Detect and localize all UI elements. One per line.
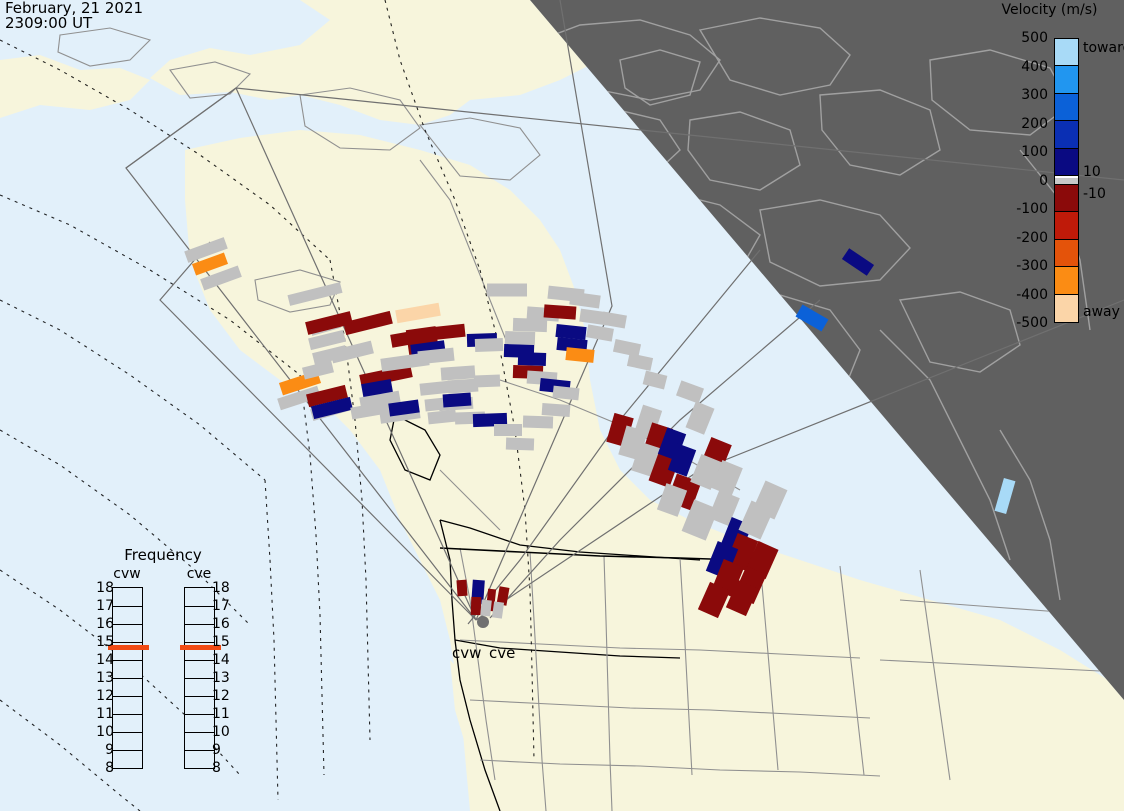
superdarn-velocity-map: February, 21 20212309:00 UT Velocity (m/… — [0, 0, 1124, 811]
frequency-title: Frequency — [88, 546, 238, 564]
colorbar-tick-300: 300 — [984, 87, 1048, 103]
frequency-label-cve-12: 12 — [212, 688, 238, 704]
gauge-gridline — [185, 696, 214, 697]
frequency-label-cve-18: 18 — [212, 580, 238, 596]
gauge-gridline — [185, 678, 214, 679]
gauge-gridline — [113, 678, 142, 679]
frequency-label-cvw-10: 10 — [88, 724, 114, 740]
colorbar-segment-150 — [1055, 121, 1078, 148]
frequency-legend: Frequency cvw cve 1818171716161515141413… — [88, 546, 238, 786]
colorbar-tick--300: -300 — [984, 258, 1048, 274]
colorbar-gradient — [1054, 38, 1079, 323]
gauge-gridline — [185, 660, 214, 661]
colorbar-tick--400: -400 — [984, 287, 1048, 303]
colorbar-tick--500: -500 — [984, 315, 1048, 331]
frequency-label-cve-15: 15 — [212, 634, 238, 650]
colorbar-away-label: away — [1083, 304, 1120, 320]
gauge-gridline — [113, 696, 142, 697]
gauge-gridline — [185, 642, 214, 643]
ground-scatter-cell — [475, 338, 503, 352]
gauge-gridline — [185, 624, 214, 625]
frequency-label-cvw-9: 9 — [88, 742, 114, 758]
colorbar-tick-500: 500 — [984, 30, 1048, 46]
frequency-label-cve-16: 16 — [212, 616, 238, 632]
frequency-label-cvw-13: 13 — [88, 670, 114, 686]
colorbar-segment--50 — [1055, 185, 1078, 212]
colorbar-title: Velocity (m/s) — [975, 2, 1124, 18]
frequency-label-cve-10: 10 — [212, 724, 238, 740]
gauge-gridline — [113, 624, 142, 625]
gauge-gridline — [113, 714, 142, 715]
gauge-gridline — [113, 732, 142, 733]
velocity-cell — [443, 393, 472, 408]
gauge-gridline — [113, 660, 142, 661]
frequency-label-cve-9: 9 — [212, 742, 238, 758]
frequency-marker-cvw — [108, 645, 149, 650]
velocity-cell — [518, 352, 546, 366]
colorbar-tick--100: -100 — [984, 201, 1048, 217]
frequency-label-cvw-11: 11 — [88, 706, 114, 722]
frequency-label-cve-13: 13 — [212, 670, 238, 686]
frequency-label-cvw-17: 17 — [88, 598, 114, 614]
timestamp-time: 2309:00 UT — [5, 14, 92, 32]
frequency-gauge-cve — [184, 587, 215, 769]
colorbar-segment-250 — [1055, 94, 1078, 121]
frequency-gauge-cvw — [112, 587, 143, 769]
frequency-label-cvw-16: 16 — [88, 616, 114, 632]
frequency-label-cvw-8: 8 — [88, 760, 114, 776]
gauge-gridline — [185, 606, 214, 607]
colorbar-segment-350 — [1055, 66, 1078, 93]
colorbar-tick-100: 100 — [984, 144, 1048, 160]
gauge-gridline — [185, 714, 214, 715]
velocity-cell — [456, 580, 467, 597]
ground-scatter-cell — [506, 438, 534, 451]
frequency-label-cvw-18: 18 — [88, 580, 114, 596]
frequency-label-cvw-12: 12 — [88, 688, 114, 704]
gauge-gridline — [113, 642, 142, 643]
colorbar-segment--150 — [1055, 212, 1078, 239]
velocity-cell — [471, 597, 482, 615]
colorbar-segment-50 — [1055, 149, 1078, 176]
frequency-label-cvw-15: 15 — [88, 634, 114, 650]
ground-scatter-cell — [494, 424, 522, 436]
station-label-cve: cve — [489, 644, 515, 662]
velocity-colorbar: Velocity (m/s) 5004003002001000-100-200-… — [975, 0, 1124, 340]
frequency-label-cve-14: 14 — [212, 652, 238, 668]
frequency-label-cve-17: 17 — [212, 598, 238, 614]
colorbar-segment--450 — [1055, 295, 1078, 322]
colorbar-segment-450 — [1055, 39, 1078, 66]
colorbar-tick-200: 200 — [984, 116, 1048, 132]
colorbar-tick-0: 0 — [984, 173, 1048, 189]
ground-scatter-cell — [474, 375, 500, 388]
colorbar-tick-400: 400 — [984, 59, 1048, 75]
gauge-gridline — [185, 750, 214, 751]
gauge-gridline — [185, 732, 214, 733]
colorbar-upper-threshold: 10 — [1083, 164, 1101, 180]
gauge-gridline — [113, 606, 142, 607]
velocity-cell — [544, 304, 577, 319]
station-label-cvw: cvw — [452, 644, 481, 662]
frequency-label-cvw-14: 14 — [88, 652, 114, 668]
ground-scatter-cell — [505, 331, 535, 345]
colorbar-lower-threshold: -10 — [1083, 186, 1106, 202]
gauge-gridline — [113, 750, 142, 751]
frequency-label-cve-8: 8 — [212, 760, 238, 776]
radar-site-marker — [477, 616, 489, 628]
timestamp: February, 21 20212309:00 UT — [5, 1, 143, 31]
frequency-label-cve-11: 11 — [212, 706, 238, 722]
ground-scatter-cell — [441, 365, 476, 380]
ground-scatter-cell — [523, 415, 553, 428]
colorbar-segment-0 — [1055, 176, 1078, 185]
ground-scatter-cell — [542, 403, 571, 417]
colorbar-toward-label: toward — [1083, 40, 1124, 56]
ground-scatter-cell — [480, 600, 492, 617]
colorbar-segment--250 — [1055, 240, 1078, 267]
colorbar-segment--350 — [1055, 267, 1078, 294]
colorbar-tick--200: -200 — [984, 230, 1048, 246]
ground-scatter-cell — [487, 284, 527, 297]
